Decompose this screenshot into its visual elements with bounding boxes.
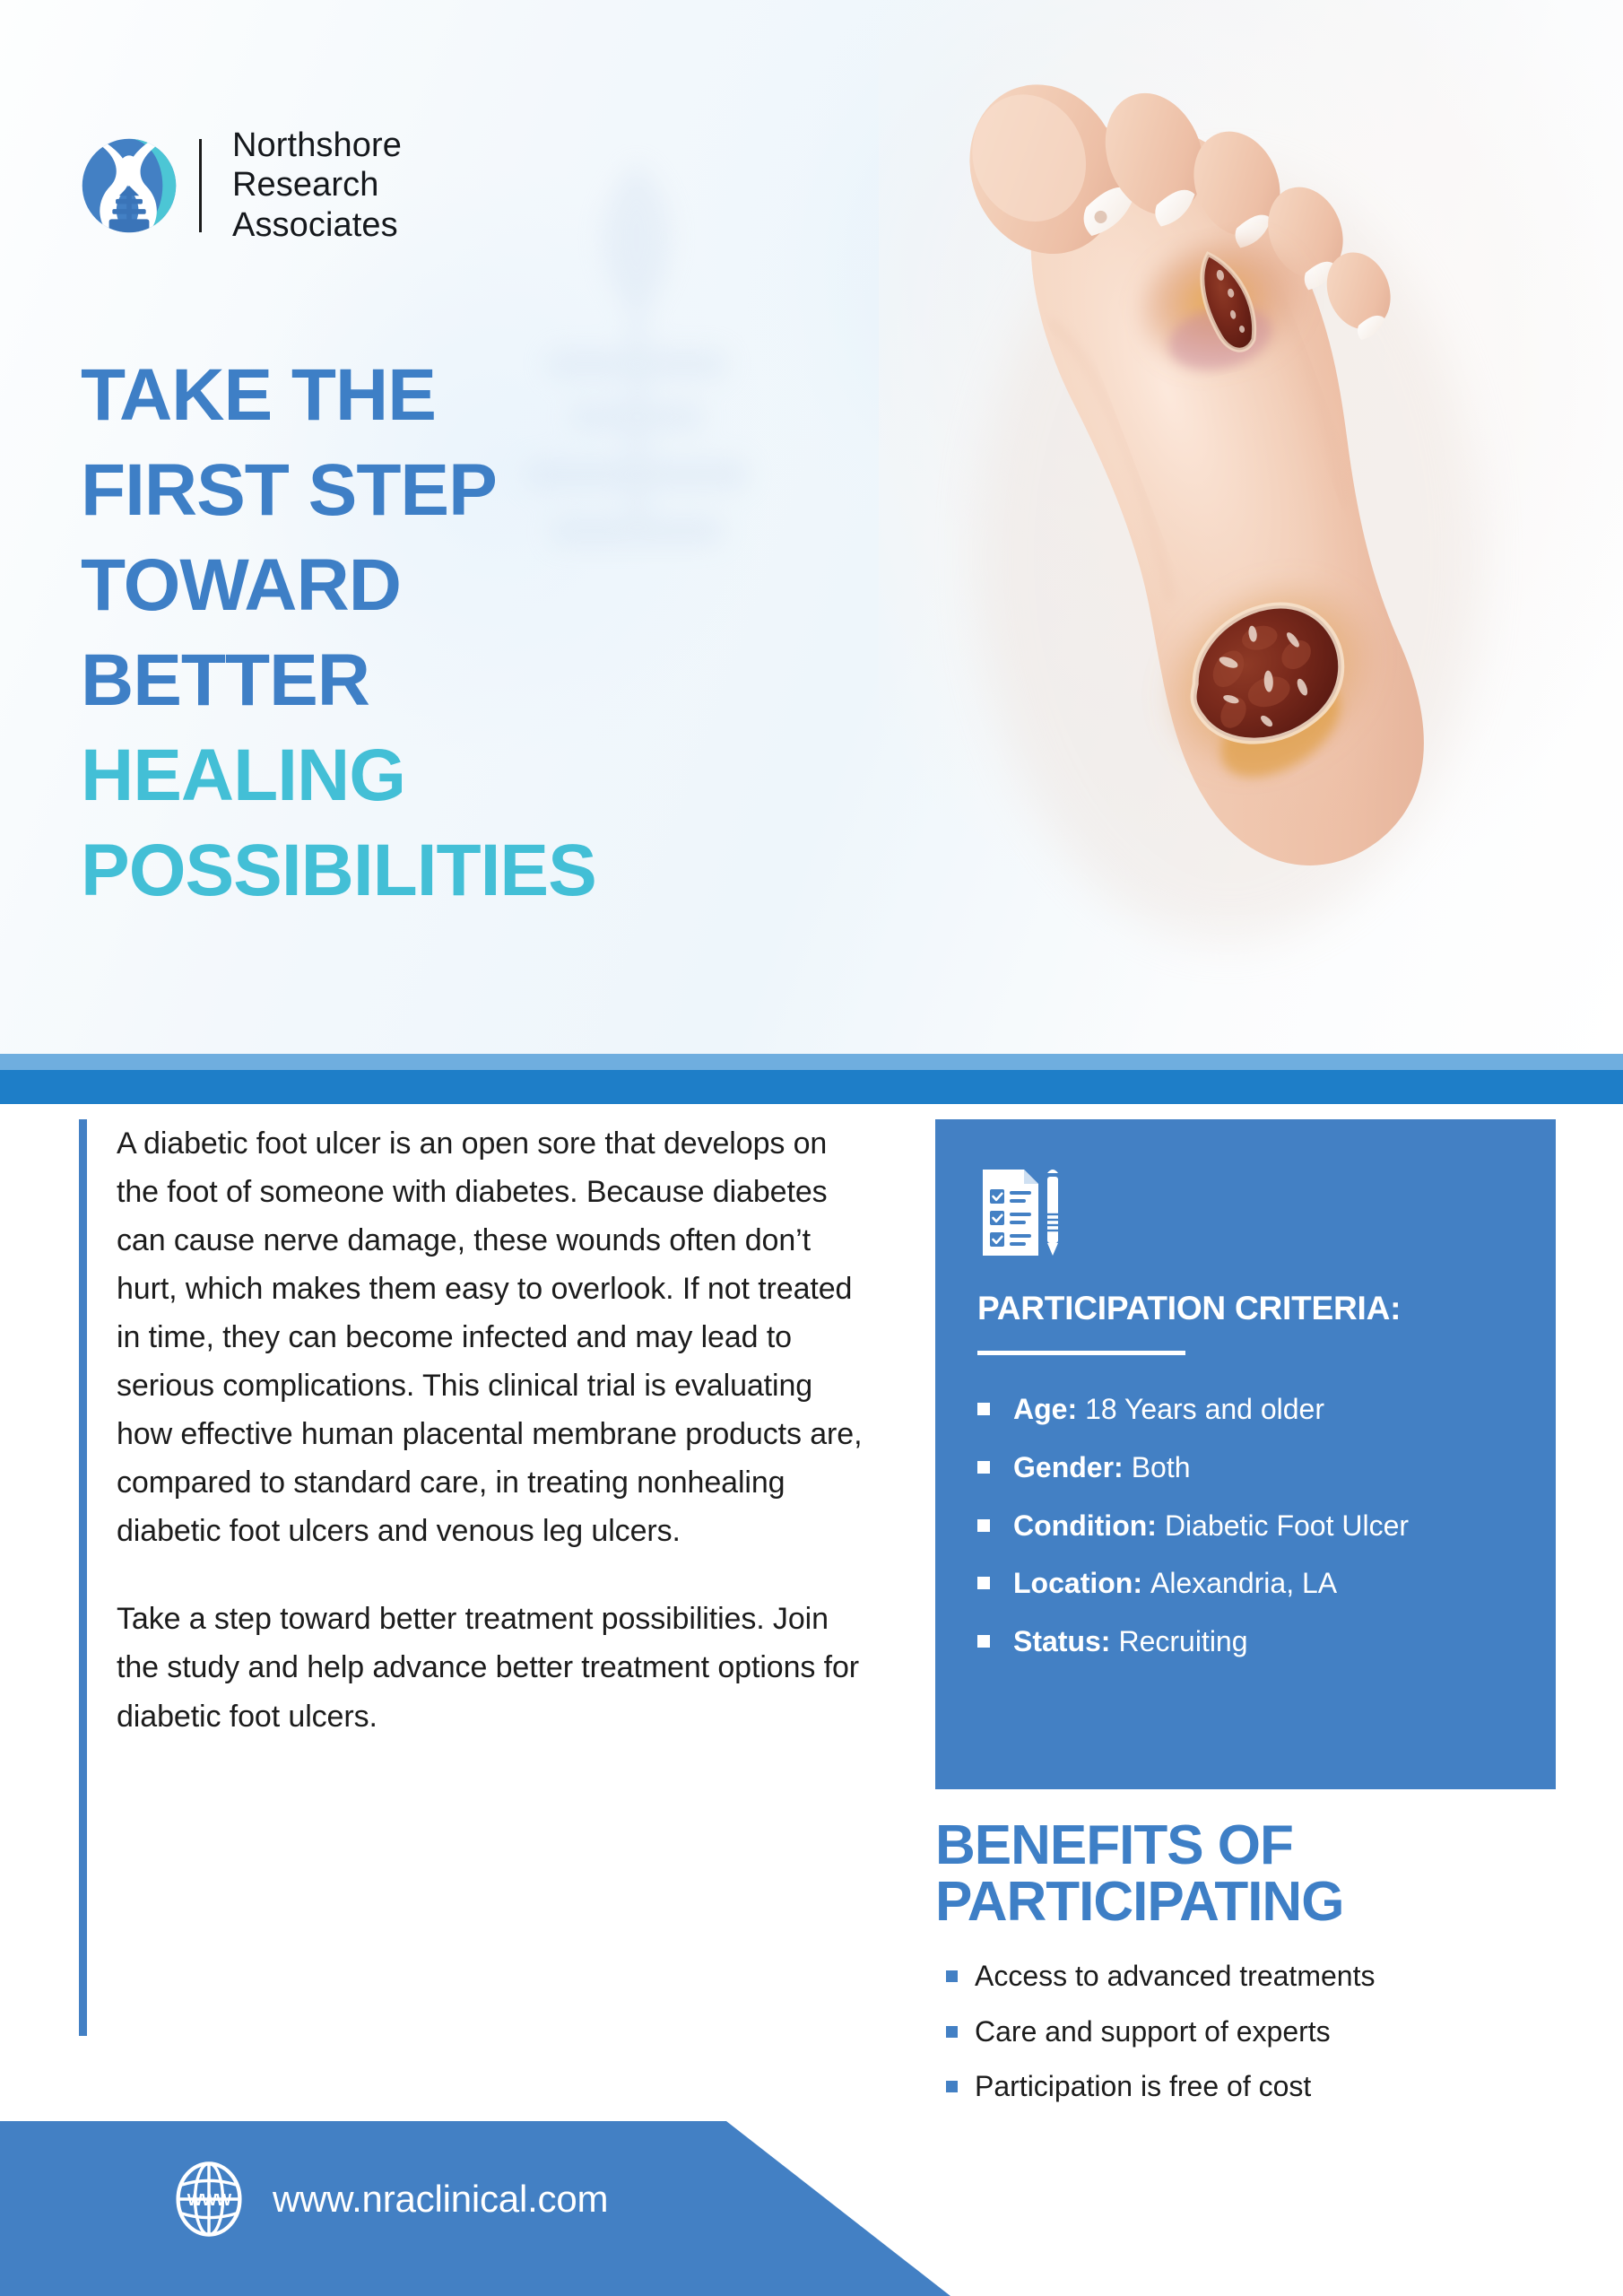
criteria-label: Location: <box>1013 1567 1142 1601</box>
criteria-item-gender: Gender: Both <box>977 1451 1520 1485</box>
benefits-item-label: Access to advanced treatments <box>975 1959 1375 1993</box>
svg-text:WWW: WWW <box>187 2191 232 2209</box>
divider-band-dark <box>0 1070 1623 1104</box>
dna-helix-person-logo-icon <box>79 135 179 236</box>
headline-line-5: HEALING <box>81 739 726 813</box>
divider-band-light <box>0 1054 1623 1070</box>
brand-name: Northshore Research Associates <box>232 126 402 245</box>
description-paragraph-2: Take a step toward better treatment poss… <box>117 1595 868 1740</box>
headline-line-4: BETTER <box>81 644 726 717</box>
headline-line-3: TOWARD <box>81 549 726 622</box>
description-column: A diabetic foot ulcer is an open sore th… <box>79 1119 868 1741</box>
headline-line-2: FIRST STEP <box>81 454 726 527</box>
benefits-item: Participation is free of cost <box>946 2069 1599 2103</box>
headline-line-6: POSSIBILITIES <box>81 834 726 908</box>
bullet-square-icon <box>977 1635 990 1648</box>
criteria-title-underline <box>977 1351 1185 1355</box>
benefits-item-label: Care and support of experts <box>975 2014 1331 2048</box>
brand-logo: Northshore Research Associates <box>79 126 402 245</box>
criteria-label: Status: <box>1013 1625 1110 1659</box>
criteria-value: 18 Years and older <box>1085 1393 1324 1427</box>
footer-content: WWW www.nraclinical.com <box>170 2161 608 2238</box>
status-badge: Recruiting <box>1118 1625 1247 1659</box>
bullet-square-icon <box>946 1970 958 1982</box>
criteria-list: Age: 18 Years and older Gender: Both Con… <box>977 1393 1520 1659</box>
criteria-label: Gender: <box>1013 1451 1124 1485</box>
criteria-label: Age: <box>1013 1393 1077 1427</box>
criteria-value: Both <box>1132 1451 1191 1485</box>
clipboard-checklist-pencil-icon <box>977 1166 1067 1259</box>
criteria-title: PARTICIPATION CRITERIA: <box>977 1290 1520 1327</box>
benefits-section: BENEFITS OF PARTICIPATING Access to adva… <box>935 1817 1599 2125</box>
criteria-item-condition: Condition: Diabetic Foot Ulcer <box>977 1509 1520 1544</box>
headline-line-1: TAKE THE <box>81 359 726 432</box>
description-paragraph-1: A diabetic foot ulcer is an open sore th… <box>117 1119 868 1555</box>
footer-banner: WWW www.nraclinical.com <box>0 2121 950 2296</box>
diabetic-foot-ulcer-graphic <box>843 0 1623 1004</box>
criteria-value: Alexandria, LA <box>1150 1567 1337 1601</box>
benefits-list: Access to advanced treatments Care and s… <box>935 1959 1599 2103</box>
benefits-item: Access to advanced treatments <box>946 1959 1599 1993</box>
participation-criteria-panel: PARTICIPATION CRITERIA: Age: 18 Years an… <box>935 1119 1556 1789</box>
globe-www-icon: WWW <box>170 2161 247 2238</box>
criteria-item-age: Age: 18 Years and older <box>977 1393 1520 1427</box>
benefits-item-label: Participation is free of cost <box>975 2069 1311 2103</box>
foot-illustration <box>843 0 1623 1004</box>
bullet-square-icon <box>977 1577 990 1589</box>
hero-section: Northshore Research Associates TAKE THE … <box>0 0 1623 1054</box>
bullet-square-icon <box>977 1403 990 1415</box>
main-content: A diabetic foot ulcer is an open sore th… <box>0 1104 1623 2144</box>
benefits-item: Care and support of experts <box>946 2014 1599 2048</box>
criteria-value: Diabetic Foot Ulcer <box>1165 1509 1409 1544</box>
bullet-square-icon <box>977 1519 990 1532</box>
criteria-label: Condition: <box>1013 1509 1157 1544</box>
criteria-item-status: Status: Recruiting <box>977 1625 1520 1659</box>
page-headline: TAKE THE FIRST STEP TOWARD BETTER HEALIN… <box>81 359 726 929</box>
bullet-square-icon <box>946 2081 958 2092</box>
bullet-square-icon <box>946 2026 958 2038</box>
benefits-title: BENEFITS OF PARTICIPATING <box>935 1817 1599 1930</box>
logo-divider <box>199 139 202 232</box>
bullet-square-icon <box>977 1461 990 1474</box>
criteria-item-location: Location: Alexandria, LA <box>977 1567 1520 1601</box>
website-url[interactable]: www.nraclinical.com <box>273 2178 608 2221</box>
